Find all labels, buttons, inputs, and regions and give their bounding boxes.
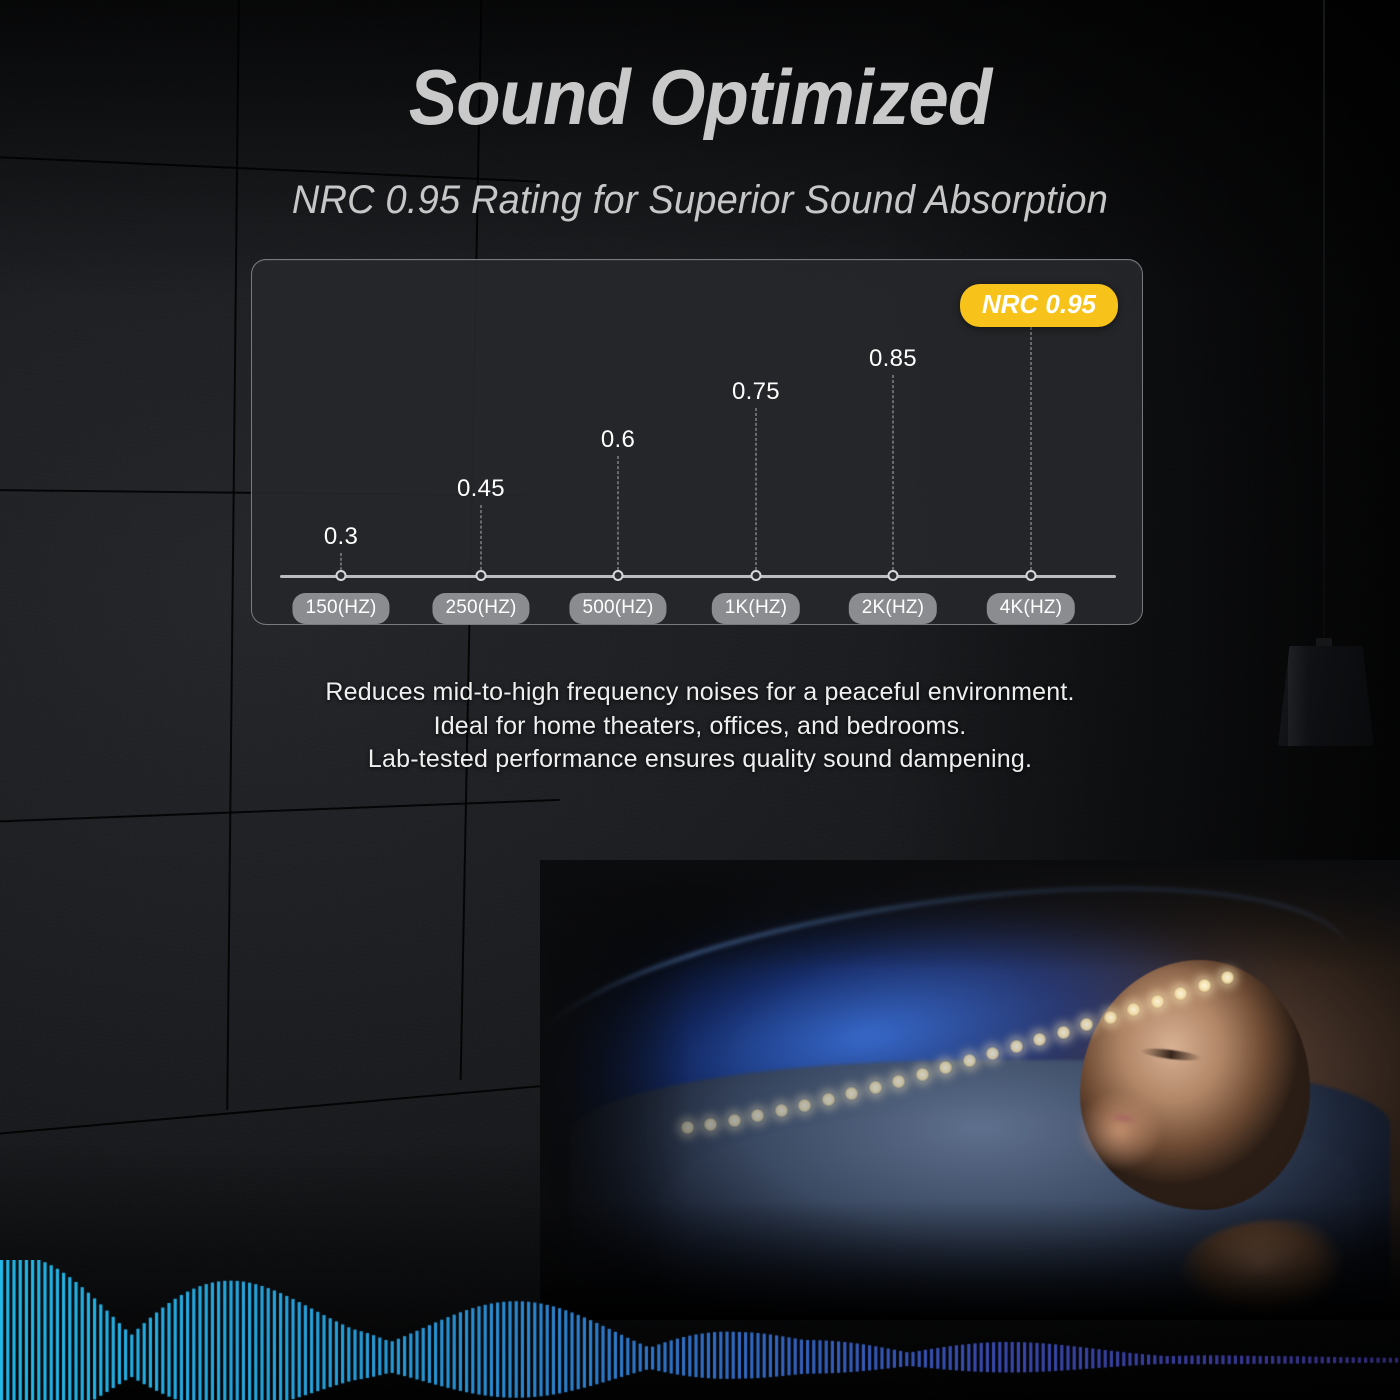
feature-line: Ideal for home theaters, offices, and be… (0, 710, 1400, 744)
chart-value-label: 0.6 (601, 426, 635, 454)
nrc-chart-card: NRC 0.95 0.3150(HZ)0.45250(HZ)0.6500(HZ)… (251, 259, 1143, 625)
audio-waveform (0, 1260, 1400, 1400)
sleeping-baby-photo (540, 860, 1400, 1320)
chart-marker-dot (751, 570, 762, 581)
chart-marker-dot (1026, 570, 1037, 581)
chart-x-axis (280, 575, 1116, 578)
chart-tick-label: 1K(HZ) (712, 593, 800, 624)
chart-value-label: 0.45 (457, 475, 505, 503)
chart-leader-line (618, 456, 619, 575)
page-subtitle: NRC 0.95 Rating for Superior Sound Absor… (35, 178, 1365, 223)
promo-banner: Sound Optimized NRC 0.95 Rating for Supe… (0, 0, 1400, 1400)
feature-description: Reduces mid-to-high frequency noises for… (0, 676, 1400, 777)
chart-leader-line (1031, 312, 1032, 575)
chart-tick-label: 2K(HZ) (849, 593, 937, 624)
chart-tick-label: 150(HZ) (292, 593, 389, 624)
chart-marker-dot (613, 570, 624, 581)
chart-value-label: 0.85 (869, 345, 917, 373)
chart-tick-label: 500(HZ) (569, 593, 666, 624)
chart-marker-dot (336, 570, 347, 581)
feature-line: Lab-tested performance ensures quality s… (0, 743, 1400, 777)
feature-line: Reduces mid-to-high frequency noises for… (0, 676, 1400, 710)
chart-leader-line (893, 375, 894, 575)
page-title: Sound Optimized (49, 52, 1351, 143)
chart-marker-dot (476, 570, 487, 581)
chart-leader-line (481, 505, 482, 575)
chart-tick-label: 250(HZ) (432, 593, 529, 624)
nrc-badge: NRC 0.95 (960, 284, 1118, 327)
chart-value-label: 0.75 (732, 378, 780, 406)
chart-tick-label: 4K(HZ) (987, 593, 1075, 624)
photo-fade-top (540, 860, 1400, 970)
chart-value-label: 0.3 (324, 523, 358, 551)
chart-leader-line (756, 408, 757, 575)
chart-marker-dot (888, 570, 899, 581)
